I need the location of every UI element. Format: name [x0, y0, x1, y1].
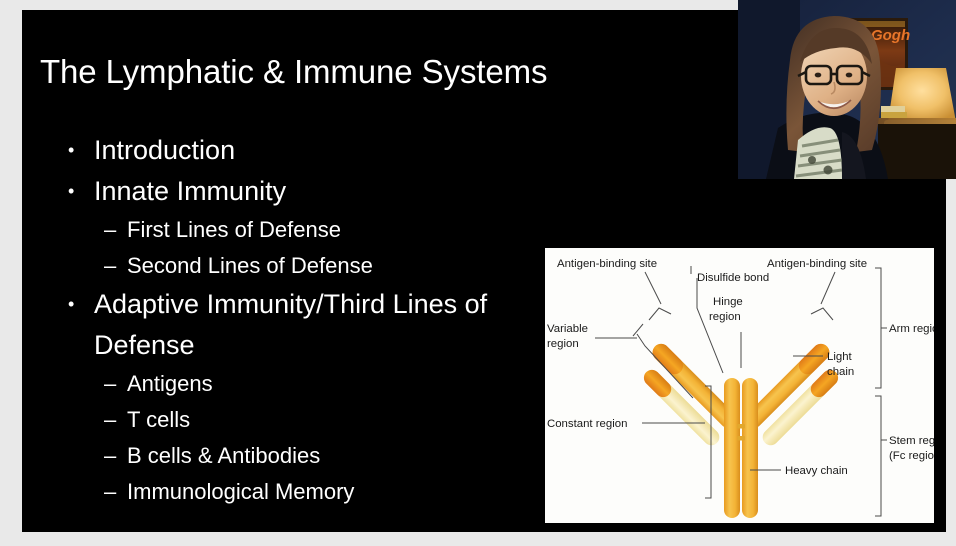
- list-item: – T cells: [62, 402, 552, 438]
- arm-region-label: Arm region: [889, 323, 934, 335]
- stem-region-label-line1: Stem region: [889, 435, 934, 447]
- antigen-binding-left-label: Antigen-binding site: [557, 258, 657, 270]
- bullet-marker: –: [104, 402, 116, 438]
- list-item: – First Lines of Defense: [62, 212, 552, 248]
- list-item-label: T cells: [127, 407, 190, 432]
- bullet-marker: •: [68, 284, 74, 325]
- list-item-label: Adaptive Immunity/Third Lines of Defense: [94, 289, 487, 360]
- list-item: – B cells & Antibodies: [62, 438, 552, 474]
- stem-region-label-line2: (Fc region): [889, 450, 934, 462]
- list-item: – Antigens: [62, 366, 552, 402]
- list-item: • Adaptive Immunity/Third Lines of Defen…: [62, 284, 552, 366]
- hinge-region-label-line1: Hinge: [713, 296, 743, 308]
- list-item-label: Introduction: [94, 135, 235, 165]
- variable-region-label-line2: region: [547, 338, 579, 350]
- list-item-label: Antigens: [127, 371, 213, 396]
- constant-region-label: Constant region: [547, 418, 627, 430]
- bullet-marker: –: [104, 212, 116, 248]
- variable-region-label-line1: Variable: [547, 323, 588, 335]
- list-item: • Introduction: [62, 130, 552, 171]
- list-item-label: Immunological Memory: [127, 479, 354, 504]
- presentation-screen: The Lymphatic & Immune Systems • Introdu…: [0, 0, 956, 546]
- hinge-region-label-line2: region: [709, 311, 741, 323]
- list-item-label: Innate Immunity: [94, 176, 286, 206]
- antibody-structure-diagram: Antigen-binding site Antigen-binding sit…: [545, 248, 934, 523]
- list-item-label: B cells & Antibodies: [127, 443, 320, 468]
- bullet-list: • Introduction • Innate Immunity – First…: [62, 130, 552, 510]
- light-chain-label-line2: chain: [827, 366, 854, 378]
- heavy-chain-label: Heavy chain: [785, 465, 848, 477]
- list-item: – Second Lines of Defense: [62, 248, 552, 284]
- page-title: The Lymphatic & Immune Systems: [40, 53, 547, 91]
- bullet-marker: –: [104, 438, 116, 474]
- bullet-marker: •: [68, 171, 74, 212]
- list-item: – Immunological Memory: [62, 474, 552, 510]
- bullet-marker: –: [104, 366, 116, 402]
- list-item: • Innate Immunity: [62, 171, 552, 212]
- bullet-marker: –: [104, 474, 116, 510]
- bullet-marker: •: [68, 130, 74, 171]
- antigen-binding-right-label: Antigen-binding site: [767, 258, 867, 270]
- list-item-label: Second Lines of Defense: [127, 253, 373, 278]
- presenter-webcam-feed[interactable]: VanGogh: [738, 0, 956, 179]
- list-item-label: First Lines of Defense: [127, 217, 341, 242]
- bullet-marker: –: [104, 248, 116, 284]
- light-chain-label-line1: Light: [827, 351, 853, 363]
- disulfide-bond-label: Disulfide bond: [697, 272, 769, 284]
